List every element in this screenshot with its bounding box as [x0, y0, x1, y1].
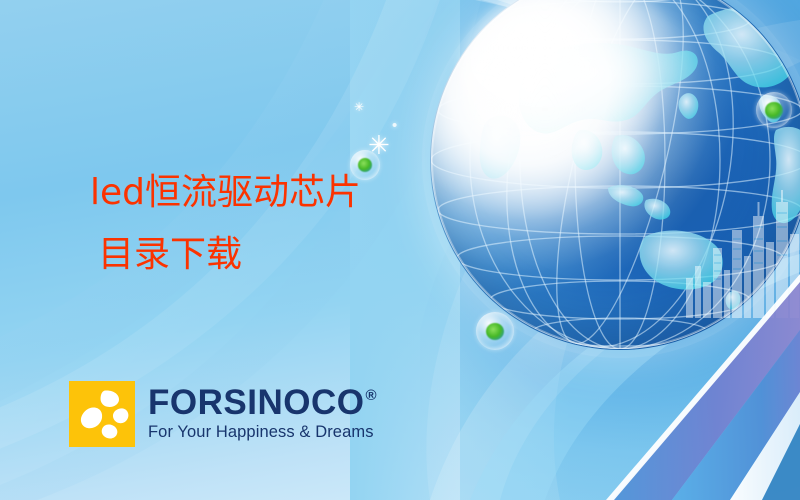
sparkle-dot-icon: • [392, 118, 397, 133]
brand-logo[interactable]: FORSINOCO ® For Your Happiness & Dreams [69, 381, 377, 447]
bubble-globe-mid-icon [476, 312, 514, 350]
four-petal-pinwheel-icon [69, 381, 135, 447]
headline-line-1: led恒流驱动芯片 [72, 162, 402, 224]
bubble-globe-right-icon [756, 92, 792, 128]
promo-banner: ✳ ✳ • [0, 0, 800, 500]
headline-line-2: 目录下载 [72, 224, 402, 286]
headline: led恒流驱动芯片 目录下载 [72, 162, 402, 286]
brand-name-row: FORSINOCO ® [148, 386, 377, 419]
logo-text: FORSINOCO ® For Your Happiness & Dreams [148, 386, 377, 441]
earth-globe-graphic [430, 0, 800, 350]
brand-tagline: For Your Happiness & Dreams [148, 423, 377, 442]
registered-trademark-icon: ® [365, 388, 377, 403]
sparkle-asterisk-small-icon: ✳ [354, 101, 364, 113]
logo-mark [69, 381, 135, 447]
brand-name: FORSINOCO [148, 386, 364, 419]
